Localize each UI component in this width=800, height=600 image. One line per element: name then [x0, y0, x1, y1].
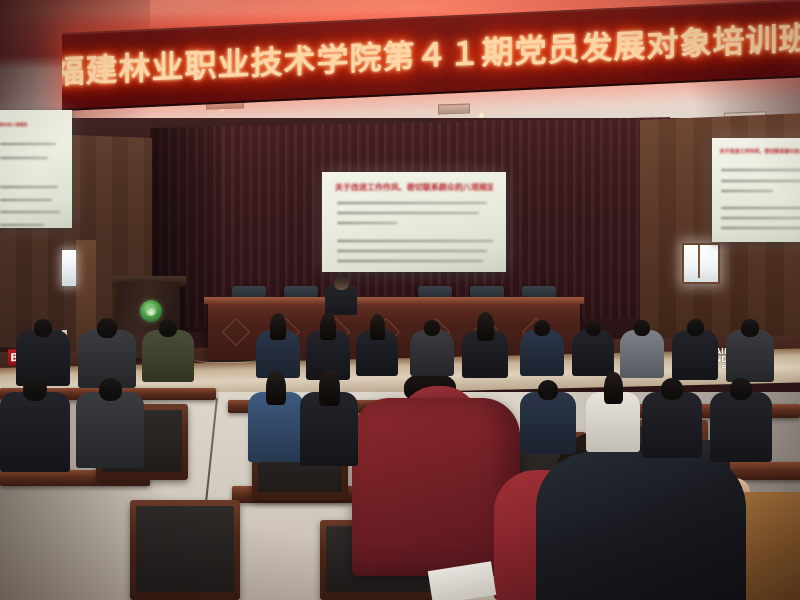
left-projection-screen: 群众的八项规定 [0, 110, 72, 228]
left-projection-screen-body-line-2 [0, 157, 48, 159]
middle-row-attendee-2-head [99, 378, 122, 401]
middle-row-attendee-5-head [538, 380, 558, 400]
back-row-attendee-6-head [370, 314, 385, 340]
back-row-attendee-3-head [159, 319, 177, 337]
left-projection-screen-body-line-3 [0, 186, 58, 188]
back-row-attendee-4-head [270, 313, 286, 340]
right-projection-screen-body-line-3 [721, 190, 773, 192]
center-projection-screen: 关于改进工作作风、密切联系群众的八项规定 [322, 172, 506, 272]
back-row-attendee-12-head [687, 319, 704, 336]
back-row-attendee-7-head [424, 320, 440, 336]
school-emblem-tree-icon [146, 306, 156, 316]
back-row-attendee-8-head [477, 312, 494, 341]
lecture-hall-photo: 福建林业职业技术学院第４１期党员发展对象培训班 群众的八项规定关于改进工作作风、… [0, 0, 800, 600]
center-projection-screen-body-line-2 [337, 212, 479, 214]
back-row-attendee-11-head [634, 320, 650, 336]
middle-row-attendee-5 [520, 392, 576, 454]
foreground-black-coat-attendee [536, 452, 746, 600]
center-projection-screen-body-line-5 [337, 250, 487, 252]
right-projection-screen-body-line-1 [721, 169, 800, 171]
middle-row-attendee-3-head [266, 371, 286, 405]
back-row-attendee-1 [16, 330, 70, 386]
center-projection-screen-title: 关于改进工作作风、密切联系群众的八项规定 [335, 182, 493, 193]
ceiling-vent-2 [438, 103, 470, 114]
right-projection-screen: 关于改进工作作风、密切联系群众的八项规定 [712, 138, 800, 242]
back-row-attendee-9-head [534, 320, 550, 336]
back-row-attendee-13 [726, 330, 774, 382]
head-table-top-edge [204, 297, 584, 304]
back-row-attendee-13-head [741, 319, 759, 337]
middle-row-attendee-6-head [604, 372, 623, 404]
center-projection-screen-body-line-3 [337, 222, 397, 224]
back-row-attendee-3 [142, 330, 194, 382]
left-projection-screen-body-line-6 [0, 224, 44, 226]
center-projection-screen-body-line-4 [337, 240, 493, 242]
middle-row-attendee-7 [642, 392, 702, 458]
middle-row-attendee-8 [710, 392, 772, 462]
back-row-attendee-9 [520, 330, 564, 376]
audience-seat-cushion-5 [136, 506, 234, 592]
back-row-attendee-1-head [34, 319, 52, 337]
middle-row-attendee-1 [0, 392, 70, 472]
back-row-attendee-10 [572, 330, 614, 376]
right-projection-screen-title: 关于改进工作作风、密切联系群众的八项规定 [720, 148, 800, 155]
middle-row-attendee-7-head [661, 378, 683, 400]
back-row-attendee-10-head [586, 321, 601, 336]
seated-speaker-head [334, 275, 349, 290]
middle-row-attendee-4-head [319, 370, 340, 406]
banner-title-text: 福建林业职业技术学院第４１期党员发展对象培训班 [62, 22, 800, 88]
lit-window-right [682, 243, 720, 284]
right-projection-screen-body-line-4 [721, 207, 800, 209]
center-projection-screen-body-line-6 [337, 260, 483, 262]
right-projection-screen-body-line-5 [721, 217, 800, 219]
back-row-attendee-11 [620, 330, 664, 378]
middle-row-attendee-1-head [23, 377, 47, 401]
back-row-attendee-5-head [320, 313, 336, 340]
middle-row-attendee-8-head [730, 378, 752, 400]
back-row-attendee-12 [672, 330, 718, 380]
back-row-attendee-7 [410, 330, 454, 376]
right-projection-screen-body-line-2 [721, 180, 800, 182]
window-mullion [698, 245, 700, 278]
back-row-attendee-2-head [97, 318, 117, 338]
center-projection-screen-body-line-1 [337, 202, 487, 204]
door-light-strip [62, 250, 76, 286]
left-projection-screen-body-line-4 [0, 199, 52, 201]
left-projection-screen-body-line-1 [0, 143, 56, 145]
left-projection-screen-title: 群众的八项规定 [0, 122, 67, 128]
right-projection-screen-body-line-6 [721, 227, 800, 229]
left-projection-screen-body-line-5 [0, 211, 60, 213]
middle-row-attendee-2 [76, 392, 144, 468]
